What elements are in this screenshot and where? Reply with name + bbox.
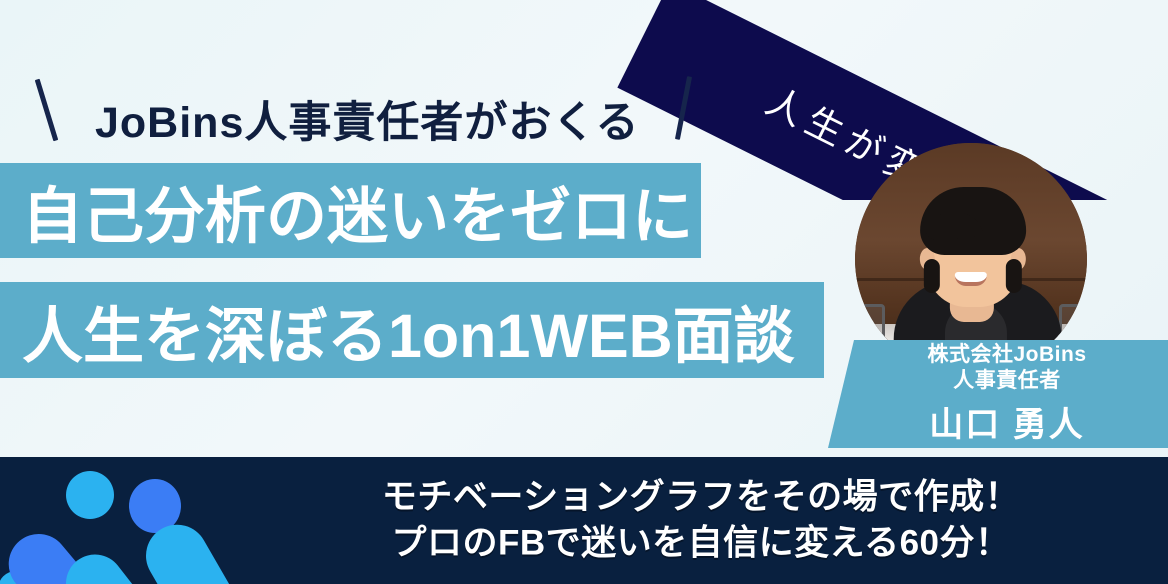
footer-message: モチベーショングラフをその場で作成！ プロのFBで迷いを自信に変える60分！ <box>246 474 1156 567</box>
photo-sideburn-left <box>924 259 940 293</box>
slash-left-icon <box>35 79 58 142</box>
headline-line-1: 自己分析の迷いをゼロに <box>0 166 693 255</box>
slash-right-icon <box>675 76 692 140</box>
jobins-logo-icon <box>0 457 250 584</box>
headline-band-1: 自己分析の迷いをゼロに <box>0 163 701 258</box>
speaker-company: 株式会社JoBins <box>927 342 1086 368</box>
headline-band-2: 人生を深ぼる1on1WEB面談 <box>0 282 824 378</box>
headline-line-2: 人生を深ぼる1on1WEB面談 <box>0 286 795 375</box>
logo-dot-1 <box>66 471 114 519</box>
footer-bar: モチベーショングラフをその場で作成！ プロのFBで迷いを自信に変える60分！ <box>0 457 1168 584</box>
speaker-nameplate: 株式会社JoBins 人事責任者 山口 勇人 <box>828 340 1168 448</box>
photo-hair <box>920 187 1026 255</box>
photo-mouth <box>955 272 987 286</box>
speaker-name: 山口 勇人 <box>929 397 1084 446</box>
speaker-role: 人事責任者 <box>953 368 1061 394</box>
kicker-text: JoBins人事責任者がおくる <box>95 88 640 150</box>
promo-banner: 人生が変わる60分 JoBins人事責任者がおくる 自己分析の迷いをゼロに 人生… <box>0 0 1168 584</box>
photo-sideburn-right <box>1006 259 1022 293</box>
footer-line-2: プロのFBで迷いを自信に変える60分！ <box>246 521 1156 568</box>
footer-line-1: モチベーショングラフをその場で作成！ <box>246 474 1156 521</box>
